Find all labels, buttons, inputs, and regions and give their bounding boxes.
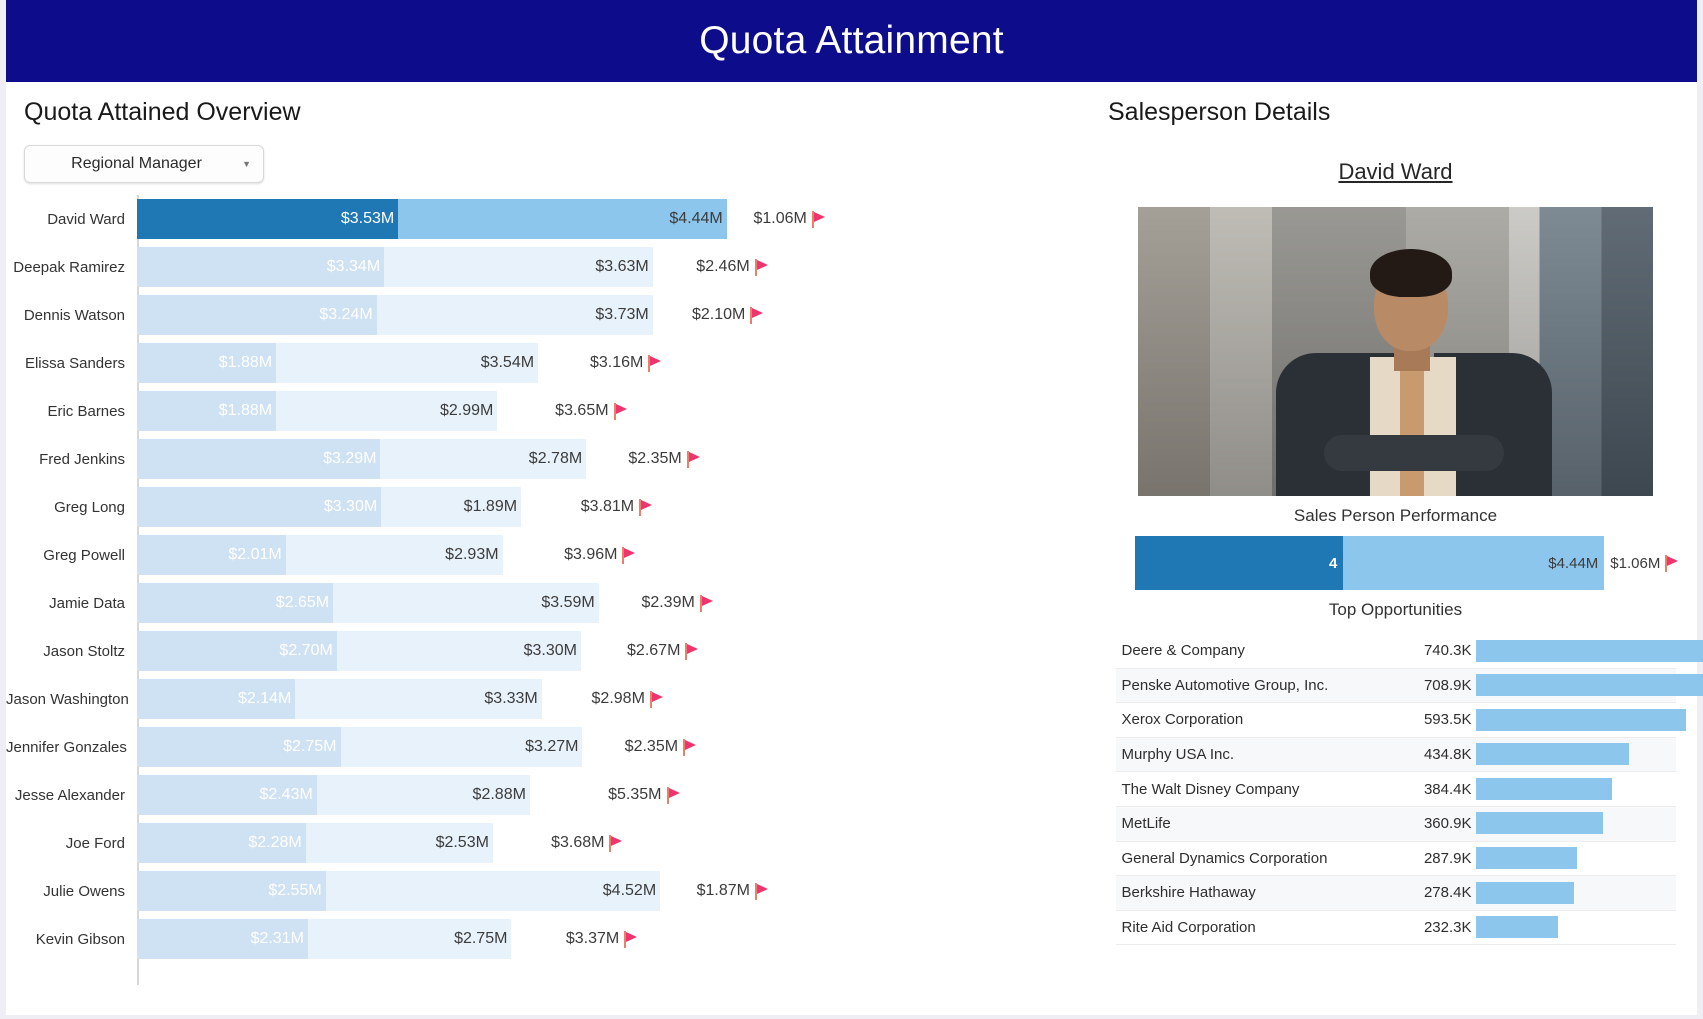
quota-gap-value: $2.10M: [692, 306, 745, 324]
quota-attained-segment: $2.70M: [137, 631, 337, 671]
dashboard-root: Quota Attainment Quota Attained Overview…: [0, 0, 1703, 1019]
quota-row-bars: $2.14M$3.33M$2.98M: [137, 675, 1094, 723]
quota-gap-label: $1.06M: [754, 199, 826, 239]
quota-row[interactable]: Kevin Gibson$2.31M$2.75M$3.37M: [6, 915, 1094, 963]
quota-row-name: Eric Barnes: [6, 403, 131, 420]
quota-row-bars: $2.31M$2.75M$3.37M: [137, 915, 1094, 963]
quota-row[interactable]: Fred Jenkins$3.29M$2.78M$2.35M: [6, 435, 1094, 483]
chevron-down-icon: ▼: [242, 159, 251, 169]
quota-pipeline-segment: $2.53M: [306, 823, 493, 863]
quota-bar-chart: David Ward$3.53M$4.44M$1.06MDeepak Ramir…: [6, 195, 1094, 985]
opportunity-name: Penske Automotive Group, Inc.: [1116, 677, 1406, 694]
quota-gap-value: $2.46M: [696, 258, 749, 276]
quota-attained-segment: $2.01M: [137, 535, 286, 575]
opportunity-value: 384.4K: [1406, 781, 1472, 798]
quota-attained-segment: $2.55M: [137, 871, 326, 911]
opportunity-bar: [1476, 882, 1575, 904]
opportunity-bar-track: [1476, 806, 1676, 841]
quota-pipeline-segment: $3.27M: [341, 727, 583, 767]
quota-attained-segment: $3.34M: [137, 247, 384, 287]
opportunity-bar-track: [1476, 737, 1676, 772]
quota-flag-icon: [650, 691, 664, 708]
quota-row[interactable]: Julie Owens$2.55M$4.52M$1.87M: [6, 867, 1094, 915]
opportunity-bar-track: [1476, 841, 1676, 876]
opportunity-name: General Dynamics Corporation: [1116, 850, 1406, 867]
quota-pipeline-segment: $2.93M: [286, 535, 503, 575]
quota-gap-label: $3.65M: [555, 391, 627, 431]
quota-row[interactable]: Deepak Ramirez$3.34M$3.63M$2.46M: [6, 243, 1094, 291]
opportunity-bar: [1476, 743, 1630, 765]
quota-flag-icon: [609, 835, 623, 852]
quota-gap-value: $3.37M: [566, 930, 619, 948]
quota-row-bars: $3.30M$1.89M$3.81M: [137, 483, 1094, 531]
quota-pipeline-segment: $1.89M: [381, 487, 521, 527]
opportunity-row[interactable]: Rite Aid Corporation232.3K: [1116, 911, 1676, 946]
quota-row-name: Dennis Watson: [6, 307, 131, 324]
quota-row[interactable]: Jesse Alexander$2.43M$2.88M$5.35M: [6, 771, 1094, 819]
quota-attained-segment: $1.88M: [137, 343, 276, 383]
quota-row-name: Kevin Gibson: [6, 931, 131, 948]
quota-flag-icon: [683, 739, 697, 756]
opportunity-bar-track: [1476, 772, 1676, 807]
quota-gap-value: $3.16M: [590, 354, 643, 372]
quota-attained-segment: $3.30M: [137, 487, 381, 527]
opportunity-row[interactable]: Penske Automotive Group, Inc.708.9K: [1116, 669, 1676, 704]
quota-gap-value: $3.81M: [581, 498, 634, 516]
quota-row-bars: $2.55M$4.52M$1.87M: [137, 867, 1094, 915]
quota-row[interactable]: Jason Stoltz$2.70M$3.30M$2.67M: [6, 627, 1094, 675]
quota-row-bars: $2.01M$2.93M$3.96M: [137, 531, 1094, 579]
quota-attained-segment: $1.88M: [137, 391, 276, 431]
opportunity-bar: [1476, 640, 1703, 662]
opportunity-bar-track: [1476, 703, 1676, 738]
quota-gap-value: $3.96M: [564, 546, 617, 564]
quota-pipeline-segment: $2.78M: [380, 439, 586, 479]
quota-flag-icon: [700, 595, 714, 612]
quota-flag-icon: [755, 883, 769, 900]
quota-row-name: Jennifer Gonzales: [6, 739, 131, 756]
opportunity-value: 360.9K: [1406, 815, 1472, 832]
opportunity-name: MetLife: [1116, 815, 1406, 832]
quota-pipeline-segment: $3.54M: [276, 343, 538, 383]
quota-attained-segment: $2.75M: [137, 727, 341, 767]
quota-gap-label: $3.96M: [564, 535, 636, 575]
quota-flag-icon: [667, 787, 681, 804]
quota-gap-label: $3.16M: [590, 343, 662, 383]
quota-row[interactable]: Eric Barnes$1.88M$2.99M$3.65M: [6, 387, 1094, 435]
quota-row-name: Jason Stoltz: [6, 643, 131, 660]
quota-row[interactable]: Greg Powell$2.01M$2.93M$3.96M: [6, 531, 1094, 579]
opportunity-value: 740.3K: [1406, 642, 1472, 659]
opportunity-bar: [1476, 709, 1686, 731]
opportunities-title: Top Opportunities: [1094, 600, 1697, 620]
salesperson-photo: [1138, 207, 1653, 496]
quota-row-bars: $2.65M$3.59M$2.39M: [137, 579, 1094, 627]
quota-pipeline-segment: $3.59M: [333, 583, 599, 623]
opportunity-bar-track: [1476, 634, 1676, 669]
page-title: Quota Attainment: [699, 19, 1004, 63]
quota-gap-label: $2.67M: [627, 631, 699, 671]
opportunity-name: Rite Aid Corporation: [1116, 919, 1406, 936]
quota-row-name: Greg Long: [6, 499, 131, 516]
quota-gap-label: $2.46M: [696, 247, 768, 287]
opportunity-name: Xerox Corporation: [1116, 711, 1406, 728]
quota-row[interactable]: Jamie Data$2.65M$3.59M$2.39M: [6, 579, 1094, 627]
opportunity-bar: [1476, 812, 1604, 834]
quota-attained-segment: $2.65M: [137, 583, 333, 623]
opportunity-name: The Walt Disney Company: [1116, 781, 1406, 798]
performance-pipeline-segment: $4.44M: [1343, 536, 1604, 590]
quota-row-bars: $3.24M$3.73M$2.10M: [137, 291, 1094, 339]
quota-attained-segment: $3.24M: [137, 295, 377, 335]
performance-gap-value: $1.06M: [1610, 555, 1660, 572]
quota-flag-icon: [755, 259, 769, 276]
quota-gap-label: $3.68M: [551, 823, 623, 863]
opportunity-row[interactable]: Berkshire Hathaway278.4K: [1116, 876, 1676, 911]
quota-row-bars: $3.29M$2.78M$2.35M: [137, 435, 1094, 483]
quota-flag-icon: [687, 451, 701, 468]
quota-row-name: Jason Washington: [6, 691, 131, 708]
opportunity-row[interactable]: Deere & Company740.3K: [1116, 634, 1676, 669]
quota-flag-icon: [685, 643, 699, 660]
quota-flag-icon: [624, 931, 638, 948]
opportunity-bar: [1476, 916, 1558, 938]
quota-row-bars: $2.28M$2.53M$3.68M: [137, 819, 1094, 867]
opportunity-name: Berkshire Hathaway: [1116, 884, 1406, 901]
quota-row-name: Deepak Ramirez: [6, 259, 131, 276]
opportunity-row[interactable]: MetLife360.9K: [1116, 807, 1676, 842]
quota-flag-icon: [750, 307, 764, 324]
opportunity-row[interactable]: The Walt Disney Company384.4K: [1116, 772, 1676, 807]
salesperson-details-title: Salesperson Details: [1094, 82, 1697, 127]
quota-gap-label: $5.35M: [608, 775, 680, 815]
quota-gap-value: $2.98M: [592, 690, 645, 708]
dashboard-header: Quota Attainment: [6, 0, 1697, 82]
opportunity-bar: [1476, 674, 1703, 696]
opportunity-value: 232.3K: [1406, 919, 1472, 936]
quota-gap-value: $2.67M: [627, 642, 680, 660]
quota-row-bars: $1.88M$3.54M$3.16M: [137, 339, 1094, 387]
quota-gap-value: $2.35M: [625, 738, 678, 756]
quota-attained-segment: $2.31M: [137, 919, 308, 959]
quota-gap-label: $3.37M: [566, 919, 638, 959]
opportunity-name: Murphy USA Inc.: [1116, 746, 1406, 763]
quota-attained-segment: $3.53M: [137, 199, 398, 239]
quota-gap-value: $2.35M: [628, 450, 681, 468]
top-opportunities-table: Deere & Company740.3KPenske Automotive G…: [1116, 634, 1676, 945]
performance-flag-icon: [1665, 555, 1679, 572]
performance-title: Sales Person Performance: [1094, 506, 1697, 526]
opportunity-bar: [1476, 778, 1612, 800]
quota-flag-icon: [639, 499, 653, 516]
quota-row-bars: $3.34M$3.63M$2.46M: [137, 243, 1094, 291]
quota-flag-icon: [648, 355, 662, 372]
opportunity-value: 434.8K: [1406, 746, 1472, 763]
quota-pipeline-segment: $3.30M: [337, 631, 581, 671]
opportunity-row[interactable]: General Dynamics Corporation287.9K: [1116, 842, 1676, 877]
photo-figure-hair: [1370, 249, 1452, 297]
quota-gap-label: $2.35M: [628, 439, 700, 479]
quota-overview-pane: Quota Attained Overview Regional Manager…: [6, 82, 1094, 1015]
quota-pipeline-segment: $4.44M: [398, 199, 727, 239]
quota-row-name: Jamie Data: [6, 595, 131, 612]
quota-row-name: David Ward: [6, 211, 131, 228]
quota-pipeline-segment: $4.52M: [326, 871, 660, 911]
quota-gap-value: $1.06M: [754, 210, 807, 228]
performance-attained-segment: 4: [1135, 536, 1344, 590]
opportunity-bar-track: [1476, 668, 1676, 703]
quota-row[interactable]: Dennis Watson$3.24M$3.73M$2.10M: [6, 291, 1094, 339]
quota-attained-segment: $2.14M: [137, 679, 295, 719]
quota-gap-value: $5.35M: [608, 786, 661, 804]
quota-row-bars: $3.53M$4.44M$1.06M: [137, 195, 1094, 243]
opportunity-value: 287.9K: [1406, 850, 1472, 867]
performance-bar: 4$4.44M$1.06M: [1135, 536, 1657, 590]
quota-pipeline-segment: $3.63M: [384, 247, 653, 287]
opportunity-row[interactable]: Murphy USA Inc.434.8K: [1116, 738, 1676, 773]
opportunity-value: 593.5K: [1406, 711, 1472, 728]
quota-gap-label: $2.10M: [692, 295, 764, 335]
quota-gap-label: $1.87M: [697, 871, 769, 911]
quota-row-name: Fred Jenkins: [6, 451, 131, 468]
quota-attained-segment: $2.28M: [137, 823, 306, 863]
salesperson-name-link[interactable]: David Ward: [1094, 159, 1697, 185]
opportunity-bar: [1476, 847, 1578, 869]
quota-pipeline-segment: $2.75M: [308, 919, 512, 959]
quota-row[interactable]: Jason Washington$2.14M$3.33M$2.98M: [6, 675, 1094, 723]
dashboard-body: Quota Attained Overview Regional Manager…: [6, 82, 1697, 1015]
quota-gap-value: $2.39M: [641, 594, 694, 612]
role-filter-value: Regional Manager: [37, 155, 236, 173]
quota-pipeline-segment: $2.99M: [276, 391, 497, 431]
quota-gap-value: $3.65M: [555, 402, 608, 420]
quota-row-name: Greg Powell: [6, 547, 131, 564]
quota-attained-segment: $3.29M: [137, 439, 380, 479]
photo-figure-arms: [1324, 435, 1504, 471]
quota-row-name: Julie Owens: [6, 883, 131, 900]
quota-row-bars: $2.70M$3.30M$2.67M: [137, 627, 1094, 675]
role-filter-dropdown[interactable]: Regional Manager ▼: [24, 145, 264, 183]
quota-flag-icon: [614, 403, 628, 420]
opportunity-value: 708.9K: [1406, 677, 1472, 694]
photo-figure-tie: [1400, 359, 1424, 496]
quota-row[interactable]: Joe Ford$2.28M$2.53M$3.68M: [6, 819, 1094, 867]
opportunity-bar-track: [1476, 910, 1676, 945]
opportunity-name: Deere & Company: [1116, 642, 1406, 659]
quota-row-name: Joe Ford: [6, 835, 131, 852]
quota-row[interactable]: Jennifer Gonzales$2.75M$3.27M$2.35M: [6, 723, 1094, 771]
quota-overview-title: Quota Attained Overview: [6, 82, 1094, 127]
quota-gap-label: $2.35M: [625, 727, 697, 767]
quota-flag-icon: [812, 211, 826, 228]
quota-row-bars: $1.88M$2.99M$3.65M: [137, 387, 1094, 435]
quota-row[interactable]: David Ward$3.53M$4.44M$1.06M: [6, 195, 1094, 243]
quota-attained-segment: $2.43M: [137, 775, 317, 815]
quota-gap-value: $3.68M: [551, 834, 604, 852]
quota-gap-label: $2.39M: [641, 583, 713, 623]
salesperson-details-pane: Salesperson Details David Ward Sales Per…: [1094, 82, 1697, 1015]
quota-row-bars: $2.43M$2.88M$5.35M: [137, 771, 1094, 819]
quota-gap-label: $2.98M: [592, 679, 664, 719]
quota-row-bars: $2.75M$3.27M$2.35M: [137, 723, 1094, 771]
quota-gap-value: $1.87M: [697, 882, 750, 900]
quota-row[interactable]: Elissa Sanders$1.88M$3.54M$3.16M: [6, 339, 1094, 387]
opportunity-value: 278.4K: [1406, 884, 1472, 901]
quota-gap-label: $3.81M: [581, 487, 653, 527]
opportunity-bar-track: [1476, 876, 1676, 911]
opportunity-row[interactable]: Xerox Corporation593.5K: [1116, 703, 1676, 738]
quota-pipeline-segment: $3.33M: [295, 679, 541, 719]
performance-gap-label: $1.06M: [1610, 536, 1679, 590]
quota-row-name: Elissa Sanders: [6, 355, 131, 372]
quota-flag-icon: [622, 547, 636, 564]
quota-row-name: Jesse Alexander: [6, 787, 131, 804]
quota-pipeline-segment: $3.73M: [377, 295, 653, 335]
quota-row[interactable]: Greg Long$3.30M$1.89M$3.81M: [6, 483, 1094, 531]
quota-pipeline-segment: $2.88M: [317, 775, 530, 815]
